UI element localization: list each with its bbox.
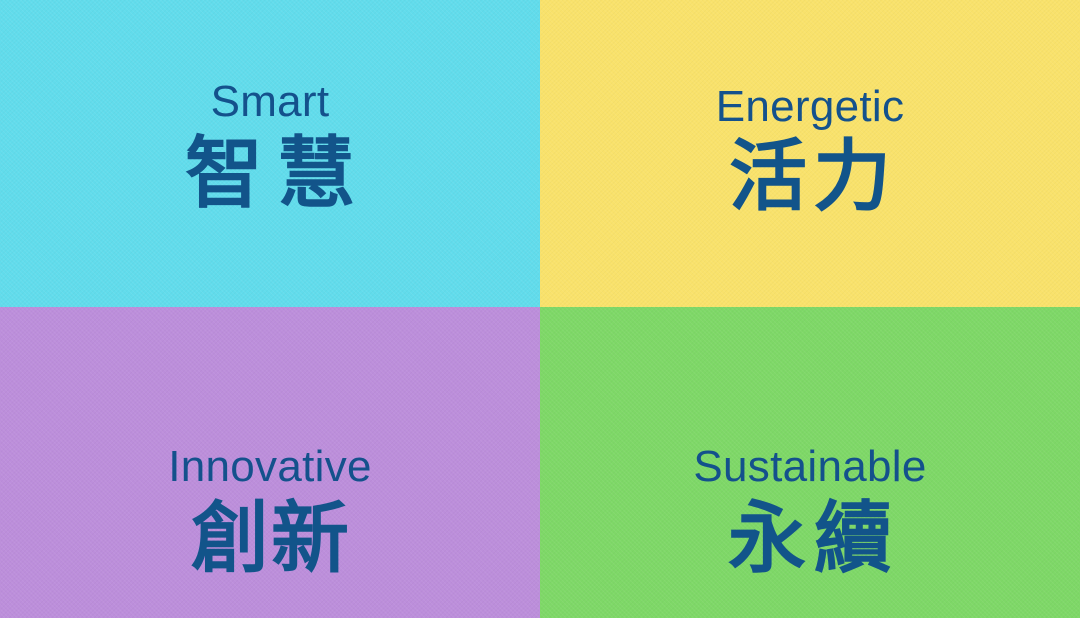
quadrant-energetic-content: Energetic 活力 xyxy=(716,85,905,215)
quadrant-innovative: Innovative 創新 xyxy=(0,307,540,618)
quadrant-smart-english-label: Smart xyxy=(211,80,330,124)
quadrant-sustainable-chinese-label: 永續 xyxy=(720,499,900,577)
quadrant-innovative-chinese-label: 創新 xyxy=(189,499,351,577)
quadrant-energetic-chinese-label: 活力 xyxy=(723,137,897,215)
quadrant-energetic-english-label: Energetic xyxy=(716,85,905,129)
quadrant-sustainable-content: Sustainable 永續 xyxy=(693,445,926,577)
quadrant-smart-chinese-label: 智慧 xyxy=(171,134,369,212)
brand-values-poster: Smart 智慧 Energetic 活力 Innovative 創新 Sust… xyxy=(0,0,1080,618)
quadrant-energetic: Energetic 活力 xyxy=(540,0,1080,307)
quadrant-innovative-content: Innovative 創新 xyxy=(168,445,372,577)
quadrant-innovative-english-label: Innovative xyxy=(168,445,372,489)
quadrant-smart: Smart 智慧 xyxy=(0,0,540,307)
quadrant-sustainable: Sustainable 永續 xyxy=(540,307,1080,618)
quadrant-sustainable-english-label: Sustainable xyxy=(693,445,926,489)
quadrant-smart-content: Smart 智慧 xyxy=(171,80,369,212)
